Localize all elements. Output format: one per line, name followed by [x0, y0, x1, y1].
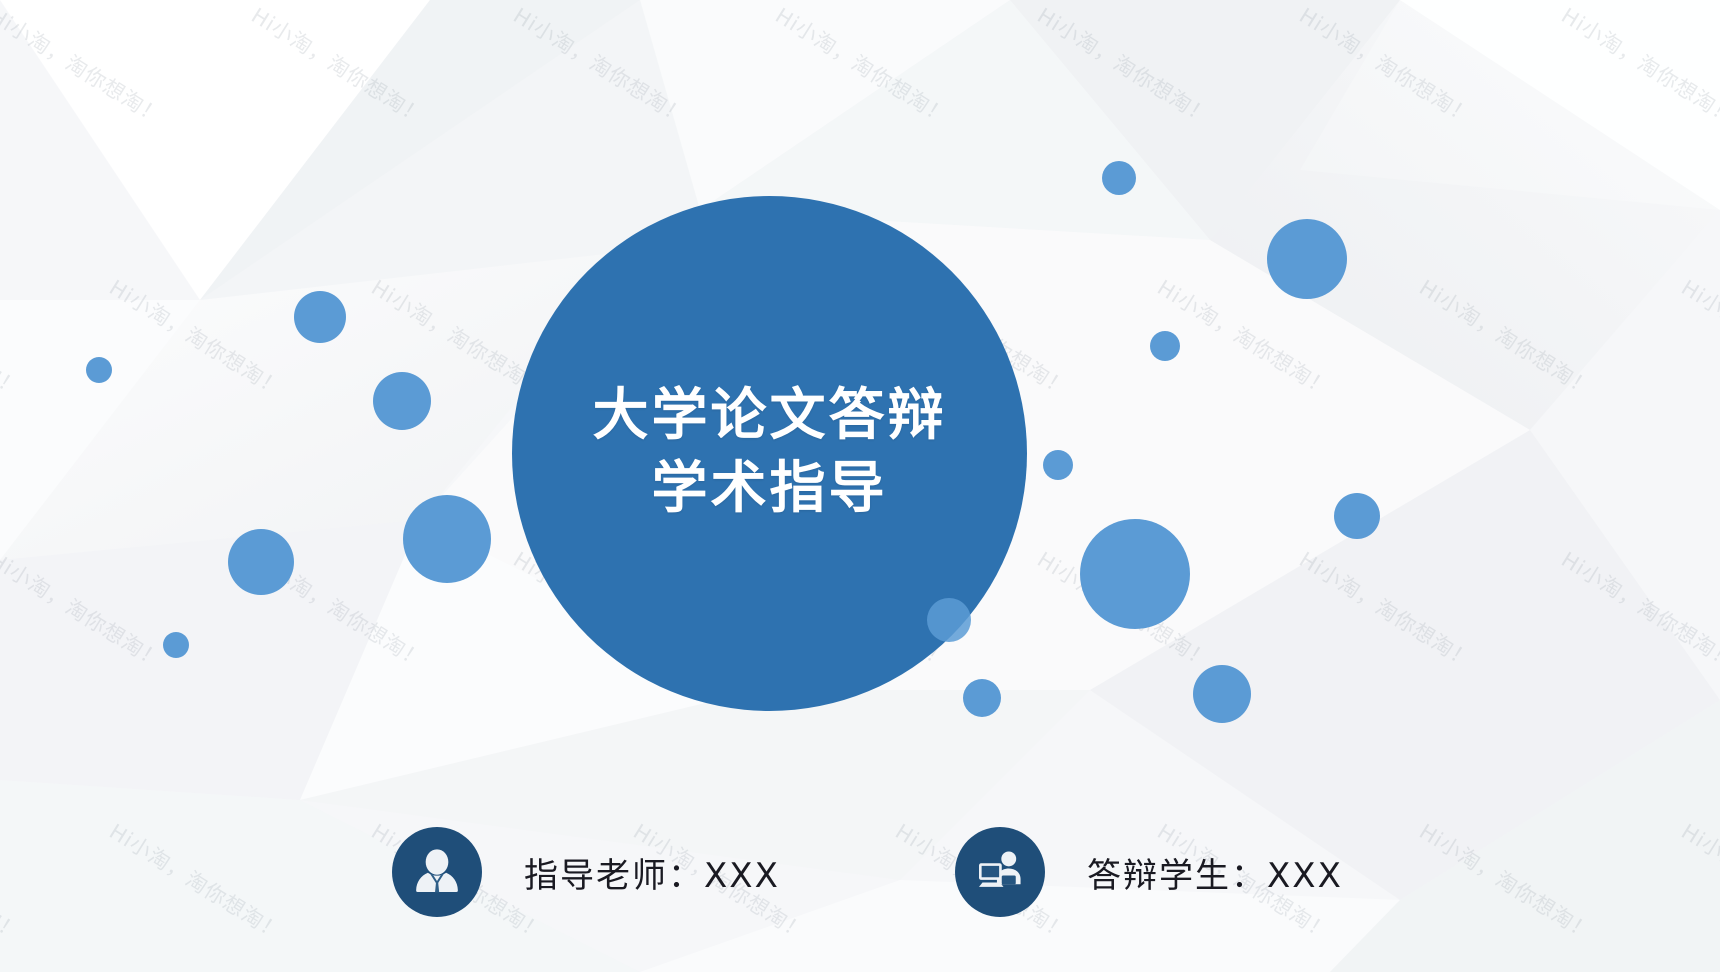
teacher-avatar-icon: [392, 827, 482, 917]
presentation-slide: Hi小淘，淘你想淘！Hi小淘，淘你想淘！Hi小淘，淘你想淘！Hi小淘，淘你想淘！…: [0, 0, 1720, 972]
title-line-2: 学术指导: [512, 453, 1027, 526]
title-line-1: 大学论文答辩: [512, 380, 1027, 453]
credit-advisor: 指导老师：XXX: [392, 818, 780, 926]
student-computer-icon: [955, 827, 1045, 917]
page-title: 大学论文答辩 学术指导: [512, 380, 1027, 526]
decorative-dot: [927, 598, 971, 642]
credits-row: 指导老师：XXX 答辩学生：XXX: [0, 818, 1720, 926]
credit-student-label: 答辩学生：XXX: [1087, 848, 1343, 897]
credit-advisor-label: 指导老师：XXX: [524, 848, 780, 897]
credit-student: 答辩学生：XXX: [955, 818, 1343, 926]
